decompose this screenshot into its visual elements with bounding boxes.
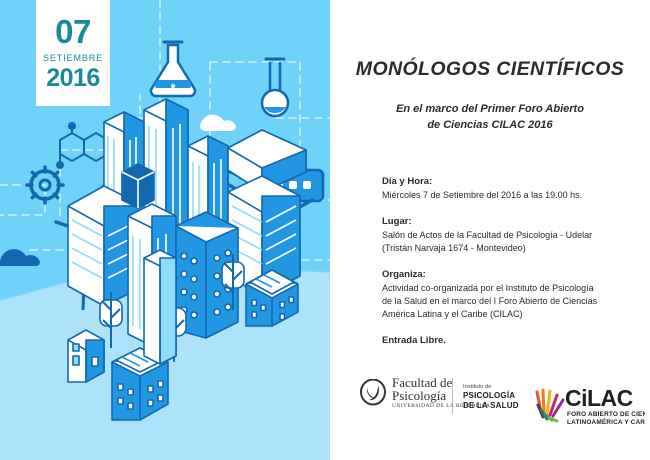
cilac-wordmark: CiLAC	[565, 385, 633, 411]
admission-text: Entrada Libre.	[382, 335, 632, 346]
udelar-owl-icon	[360, 379, 386, 407]
organizer-label: Organiza:	[382, 269, 632, 280]
organizer-line-2: de la Salud en el marco del I Foro Abier…	[382, 295, 632, 308]
date-month: SETIEMBRE	[43, 53, 103, 63]
instituto-line-2: PSICOLOGÍA	[463, 391, 519, 401]
detail-organizer: Organiza: Actividad co-organizada por el…	[382, 269, 632, 321]
illustration-panel: 07 SETIEMBRE 2016	[0, 0, 330, 460]
building-small-left	[68, 330, 104, 382]
when-text: Miércoles 7 de Setiembre del 2016 a las …	[382, 189, 632, 202]
page-title: MONÓLOGOS CIENTÍFICOS	[330, 58, 650, 81]
building-front-slab	[144, 250, 176, 364]
place-label: Lugar:	[382, 216, 632, 227]
logo-cilac: CiLAC FORO ABIERTO DE CIENCIAS LATINOAMÉ…	[535, 372, 645, 430]
cilac-tagline-2: LATINOAMÉRICA Y CARIBE	[567, 417, 645, 426]
logo-instituto-psicologia-salud: Instituto de PSICOLOGÍA DE LA SALUD	[463, 384, 519, 411]
instituto-line-3: DE LA SALUD	[463, 401, 519, 411]
content-panel: MONÓLOGOS CIENTÍFICOS En el marco del Pr…	[330, 0, 650, 460]
place-line-1: Salón de Actos de la Facultad de Psicolo…	[382, 229, 632, 242]
subtitle-line-2: de Ciencias CILAC 2016	[330, 118, 650, 134]
page-subtitle: En el marco del Primer Foro Abierto de C…	[330, 102, 650, 134]
event-details: Día y Hora: Miércoles 7 de Setiembre del…	[382, 176, 632, 356]
event-poster: 07 SETIEMBRE 2016 MONÓLOGOS CIENTÍFICOS …	[0, 0, 650, 460]
building-tower-dark	[122, 164, 154, 208]
subtitle-line-1: En el marco del Primer Foro Abierto	[330, 102, 650, 118]
when-label: Día y Hora:	[382, 176, 632, 187]
detail-when: Día y Hora: Miércoles 7 de Setiembre del…	[382, 176, 632, 202]
date-badge: 07 SETIEMBRE 2016	[36, 0, 110, 106]
instituto-line-1: Instituto de	[463, 384, 519, 391]
logo-bar: Facultad de Psicología UNIVERSIDAD DE LA…	[330, 370, 650, 432]
logo-divider	[452, 378, 453, 414]
detail-place: Lugar: Salón de Actos de la Facultad de …	[382, 216, 632, 255]
date-day: 07	[55, 15, 91, 48]
place-line-2: (Tristán Narvaja 1674 - Montevideo)	[382, 242, 632, 255]
cilac-fan-icon	[537, 390, 563, 421]
date-year: 2016	[46, 66, 100, 91]
cilac-tagline-1: FORO ABIERTO DE CIENCIAS	[567, 411, 645, 418]
organizer-line-1: Actividad co-organizada por el Instituto…	[382, 282, 632, 295]
organizer-line-3: América Latina y el Caribe (CILAC)	[382, 308, 632, 321]
